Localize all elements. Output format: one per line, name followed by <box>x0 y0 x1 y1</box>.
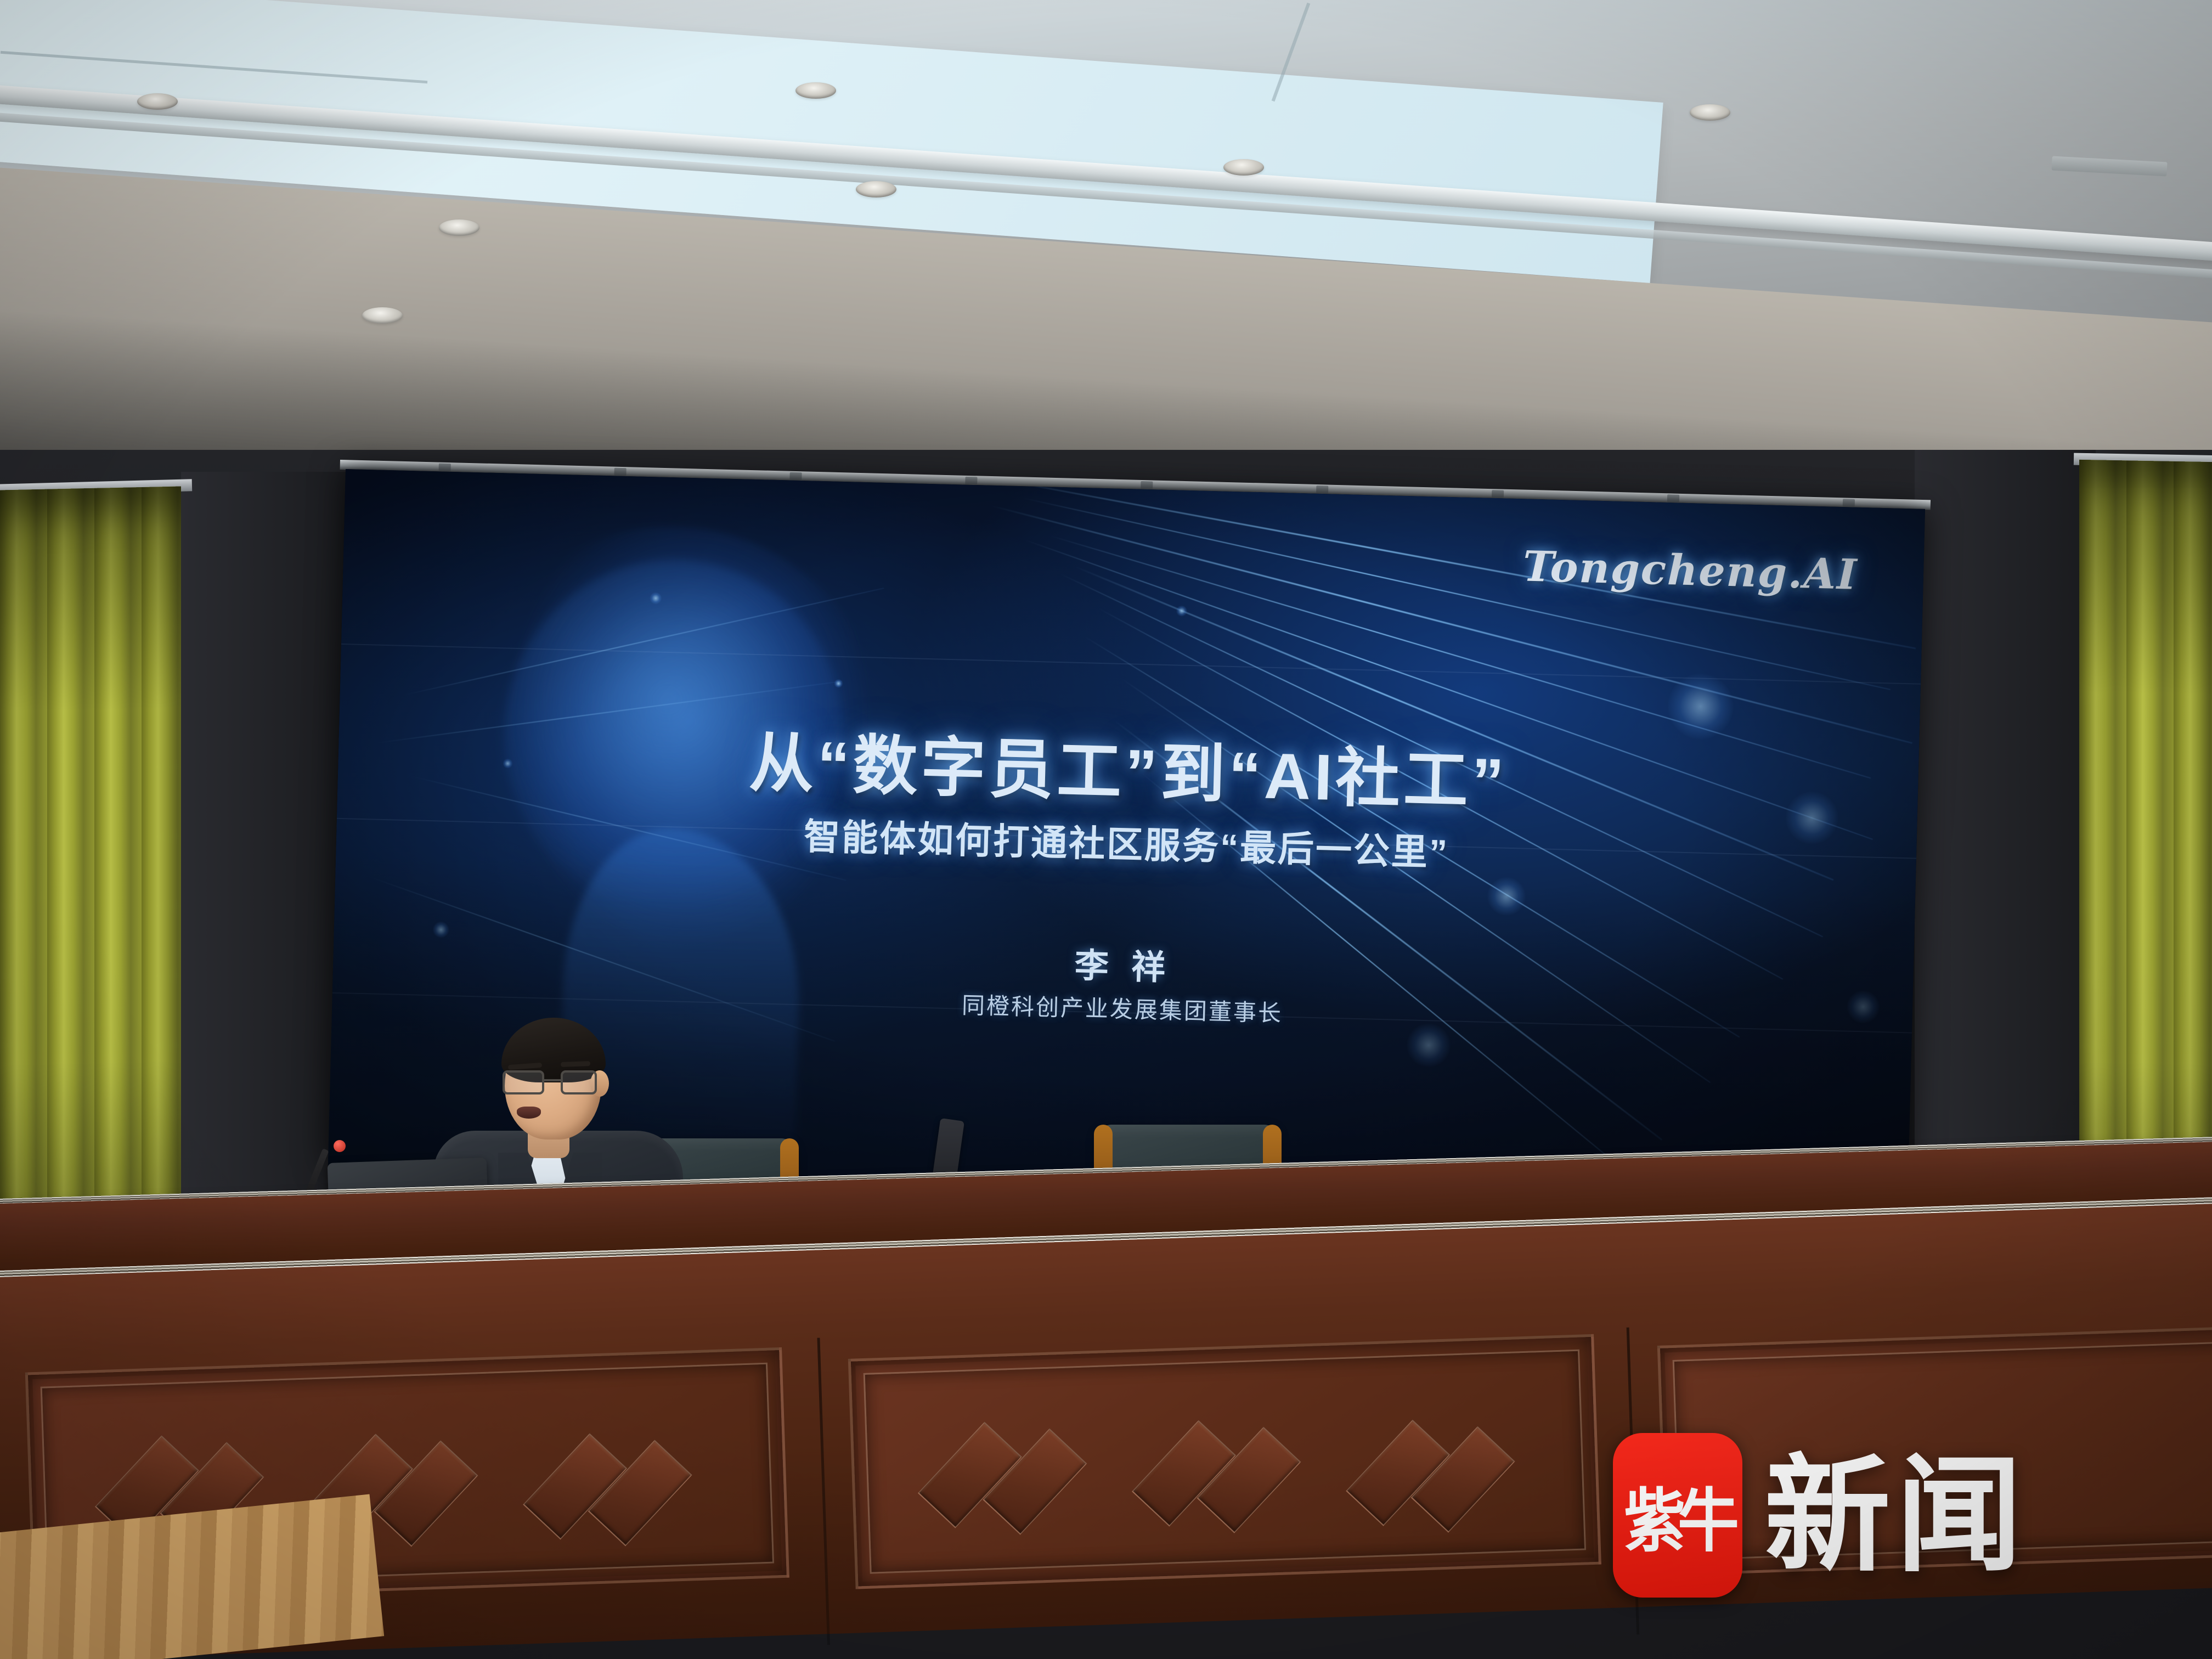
ceiling-vent <box>2051 156 2167 177</box>
downlight-icon <box>1690 104 1730 121</box>
ceiling <box>0 0 2212 494</box>
glasses-lens-right <box>561 1070 597 1094</box>
microphone-tip-icon <box>334 1140 346 1152</box>
frame-clip-icon <box>789 472 802 481</box>
frame-clip-icon <box>1667 494 1679 503</box>
frame-clip-icon <box>614 468 626 476</box>
screenshot-root: Tongcheng.AI 从“数字员工”到“AI社工” 智能体如何打通社区服务“… <box>0 0 2212 1659</box>
frame-clip-icon <box>439 464 451 472</box>
curtain-shading <box>0 487 181 1286</box>
podium-panel <box>848 1334 1601 1589</box>
speaker-eyebrow <box>561 1061 590 1067</box>
glasses-bridge <box>544 1079 561 1081</box>
downlight-icon <box>856 181 896 198</box>
wall-panel <box>1915 450 2096 1229</box>
downlight-icon <box>439 219 479 236</box>
speaker-mouth <box>517 1107 541 1119</box>
frame-clip-icon <box>965 477 977 485</box>
glasses-icon <box>503 1070 606 1094</box>
downlight-icon <box>1223 159 1264 176</box>
glasses-lens-left <box>503 1070 544 1094</box>
frame-clip-icon <box>1492 490 1504 498</box>
watermark-badge: 紫牛 <box>1613 1433 1742 1598</box>
watermark-badge-text: 紫牛 <box>1624 1465 1731 1565</box>
curtain-left <box>0 487 181 1286</box>
downlight-icon <box>795 82 836 99</box>
frame-clip-icon <box>1843 499 1855 507</box>
watermark-label: 新闻 <box>1764 1452 2028 1578</box>
news-watermark: 紫牛 新闻 <box>1613 1433 2028 1598</box>
frame-clip-icon <box>1316 486 1328 494</box>
podium-joint <box>817 1338 830 1645</box>
downlight-icon <box>137 93 178 110</box>
downlight-icon <box>362 307 403 324</box>
frame-clip-icon <box>1141 481 1153 489</box>
